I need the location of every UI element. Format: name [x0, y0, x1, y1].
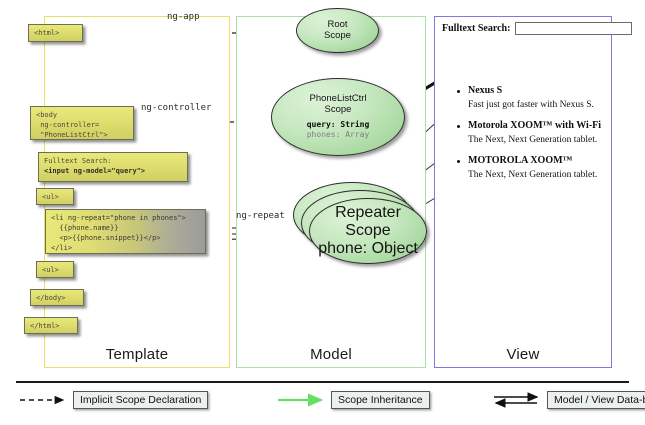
legend-model-view-data-binding: Model / View Data-binding [492, 390, 645, 410]
scope-prop-phones: phones: Array [307, 130, 370, 140]
code-box-html-open: <html> [28, 24, 83, 42]
phone-snippet: Fast just got faster with Nexus S. [455, 98, 607, 113]
scope-prop-query: query: String [307, 120, 370, 130]
edge-label-ng-repeat: ng-repeat [236, 211, 285, 221]
bullet-icon [457, 160, 460, 163]
bullet-icon [457, 90, 460, 93]
scope-root-title: Root Scope [324, 20, 351, 42]
legend-scope-inheritance: Scope Inheritance [276, 390, 430, 410]
edge-label-ng-app: ng-app [167, 12, 200, 22]
code-box-ul-open: <ul> [36, 188, 74, 205]
bullet-icon [457, 125, 460, 128]
phone-snippet: The Next, Next Generation tablet. [455, 168, 607, 183]
legend-green-arrow-icon [276, 392, 331, 408]
search-block-line1: Fulltext Search: [44, 157, 111, 165]
panel-label-view: View [435, 346, 611, 363]
panel-label-model: Model [237, 346, 425, 363]
list-item: Motorola XOOM™ with Wi-Fi The Next, Next… [455, 118, 607, 148]
scope-repeater: Repeater Scope phone: Object [309, 198, 427, 264]
search-block-line2: <input ng-model="query"> [44, 167, 145, 175]
legend-label: Model / View Data-binding [547, 391, 645, 409]
view-search-area: Fulltext Search: [442, 22, 606, 35]
legend-double-arrow-icon [492, 392, 547, 408]
code-box-ul-close: <ul> [36, 261, 74, 278]
legend-label: Scope Inheritance [331, 391, 430, 409]
legend-implicit-scope-declaration: Implicit Scope Declaration [18, 390, 208, 410]
legend-dashed-arrow-icon [18, 392, 73, 408]
phone-snippet: The Next, Next Generation tablet. [455, 133, 607, 148]
panel-label-template: Template [45, 346, 229, 363]
list-item: MOTOROLA XOOM™ The Next, Next Generation… [455, 153, 607, 183]
scope-phonelistctrl-props: query: String phones: Array [307, 120, 370, 141]
scope-repeater-title: Repeater Scope [335, 204, 401, 240]
code-box-html-close: </html> [24, 317, 78, 334]
legend-divider [16, 381, 629, 383]
phone-name: MOTOROLA XOOM™ [455, 153, 607, 168]
search-row: Fulltext Search: [442, 22, 606, 35]
phone-name: Nexus S [455, 83, 607, 98]
search-input[interactable] [515, 22, 632, 35]
code-box-body-open: <body ng-controller= "PhoneListCtrl"> [30, 106, 134, 140]
phone-name: Motorola XOOM™ with Wi-Fi [455, 118, 607, 133]
scope-phonelistctrl-title: PhoneListCtrl Scope [309, 94, 366, 116]
list-item: Nexus S Fast just got faster with Nexus … [455, 83, 607, 113]
scope-repeater-props: phone: Object [318, 240, 418, 258]
legend-label: Implicit Scope Declaration [73, 391, 208, 409]
scope-phonelistctrl: PhoneListCtrl Scope query: String phones… [271, 78, 405, 156]
panel-view: View [434, 16, 612, 368]
scope-prop-phone: phone: Object [318, 240, 418, 258]
code-box-li-repeat: <li ng-repeat="phone in phones"> {{phone… [45, 209, 206, 254]
code-box-search-block: Fulltext Search: <input ng-model="query"… [38, 152, 188, 182]
search-label: Fulltext Search: [442, 23, 510, 34]
edge-label-ng-controller: ng-controller [141, 103, 211, 113]
code-box-body-close: </body> [30, 289, 84, 306]
scope-root: Root Scope [296, 8, 379, 53]
diagram-canvas: Template Model View <html> <body ng-cont… [0, 0, 645, 425]
phone-list: Nexus S Fast just got faster with Nexus … [455, 83, 607, 189]
